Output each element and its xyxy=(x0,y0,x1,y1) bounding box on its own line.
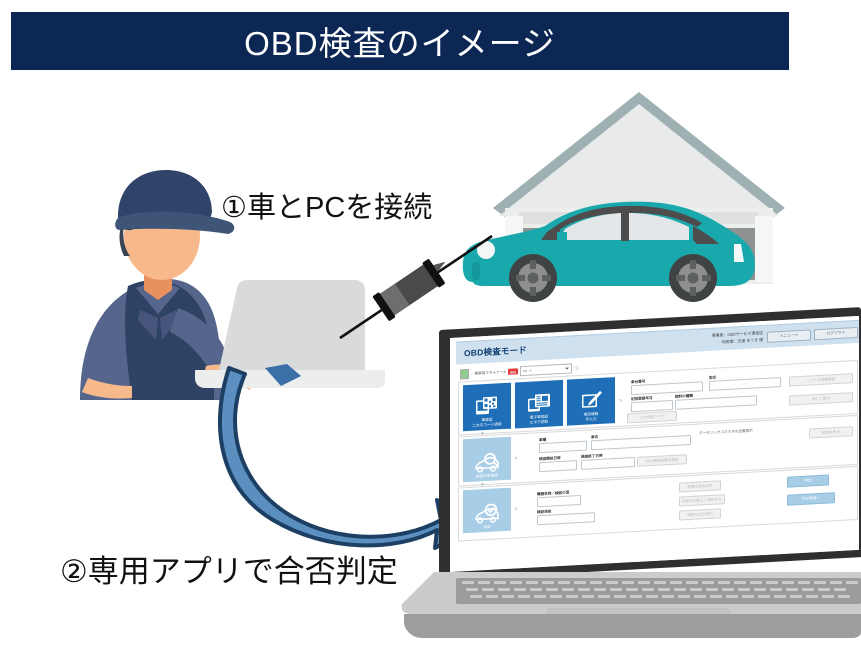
scanner-connection-badge: 接続 xyxy=(508,368,518,375)
car-check-icon xyxy=(474,503,500,525)
verify-item-field[interactable] xyxy=(537,512,595,525)
maker-field[interactable] xyxy=(539,441,587,454)
judgement-tile[interactable]: 判定 xyxy=(463,488,511,534)
position-show-button[interactable]: 位置を表示 xyxy=(809,426,853,438)
laptop-screen: OBD検査モード 事業者：OBDサービス運営店 利用者：交通 ゆうき 様 メニュ… xyxy=(450,316,859,572)
page-title: OBD検査のイメージ xyxy=(244,17,556,65)
step-1-caption: ①車とPCを接続 xyxy=(221,184,432,226)
app-account-info: 事業者：OBDサービス運営店 利用者：交通 ゆうき 様 xyxy=(712,329,763,346)
ic-tag-tile[interactable]: 電子車検証 ICタグ読取 xyxy=(515,380,563,429)
help-icon[interactable]: ⓘ xyxy=(574,365,579,372)
app-title: OBD検査モード xyxy=(464,344,527,359)
vehicle-confirm-tile[interactable]: 検査対象確認 xyxy=(463,437,511,483)
submit-button[interactable]: 判定 xyxy=(787,474,829,487)
tile-label: 車検証 二次元コード読取 xyxy=(472,417,502,429)
qr-scan-tile[interactable]: 車検証 二次元コード読取 xyxy=(463,383,511,432)
side-tile-label: 判定 xyxy=(483,525,490,530)
side-tile-label: 検査対象確認 xyxy=(476,473,498,479)
flow-chevron-icon: » xyxy=(514,506,517,512)
model-code-field[interactable]: - xyxy=(709,377,781,391)
recall-info-button[interactable]: リコール情報確認 xyxy=(789,373,853,386)
tile-label: 電子車検証 ICタグ読取 xyxy=(530,415,548,426)
scanner-status-swatch xyxy=(460,369,469,379)
pencil-form-icon xyxy=(580,391,602,411)
title-banner: OBD検査のイメージ xyxy=(11,12,789,70)
document-card-icon xyxy=(528,394,550,414)
car-magnifier-icon xyxy=(474,452,500,474)
obd-inspection-app: OBD検査モード 事業者：OBDサービス運営店 利用者：交通 ゆうき 様 メニュ… xyxy=(450,316,859,572)
teal-car-illustration xyxy=(461,196,764,306)
app-laptop-illustration: OBD検査モード 事業者：OBDサービス運営店 利用者：交通 ゆうき 様 メニュ… xyxy=(398,330,861,652)
manual-entry-tile[interactable]: 車両情報 手入力 xyxy=(567,377,615,426)
logout-button[interactable]: ログアウト xyxy=(814,327,858,340)
step-2-caption: ②専用アプリで合否判定 xyxy=(60,546,398,591)
result-code-field[interactable] xyxy=(537,495,581,507)
scanner-label: ：帳票用スキャナーА xyxy=(471,369,506,376)
tile-label: 車両情報 手入力 xyxy=(584,412,599,423)
clear-input-button[interactable]: 入力内容クリア xyxy=(627,411,677,424)
datalink-note: データリンクコネクタの位置表示 xyxy=(699,429,753,437)
inspection-end-field[interactable]: - xyxy=(581,457,635,470)
obd-position-button[interactable]: OBD接続位置を確認 xyxy=(637,454,687,467)
laptop-base xyxy=(398,570,861,652)
vehicle-detail-button[interactable]: 詳しく表示 xyxy=(789,392,853,405)
qr-code-icon xyxy=(476,396,498,416)
print-result-button[interactable]: 結果を印刷して保存する xyxy=(679,494,725,506)
menu-button[interactable]: メニューへ xyxy=(767,329,811,342)
next-vehicle-button[interactable]: 次の車両へ xyxy=(787,492,835,506)
flow-chevron-icon: » xyxy=(514,455,517,461)
flow-chevron-icon: » xyxy=(619,398,622,404)
model-name-field[interactable] xyxy=(591,435,691,450)
inspection-start-field[interactable]: - xyxy=(539,460,577,472)
scanner-select[interactable]: no - 1 xyxy=(520,364,572,376)
csv-export-button[interactable]: 結果をCSV出力 xyxy=(679,508,721,520)
read-result-button[interactable]: 結果を読み出す xyxy=(679,480,721,492)
